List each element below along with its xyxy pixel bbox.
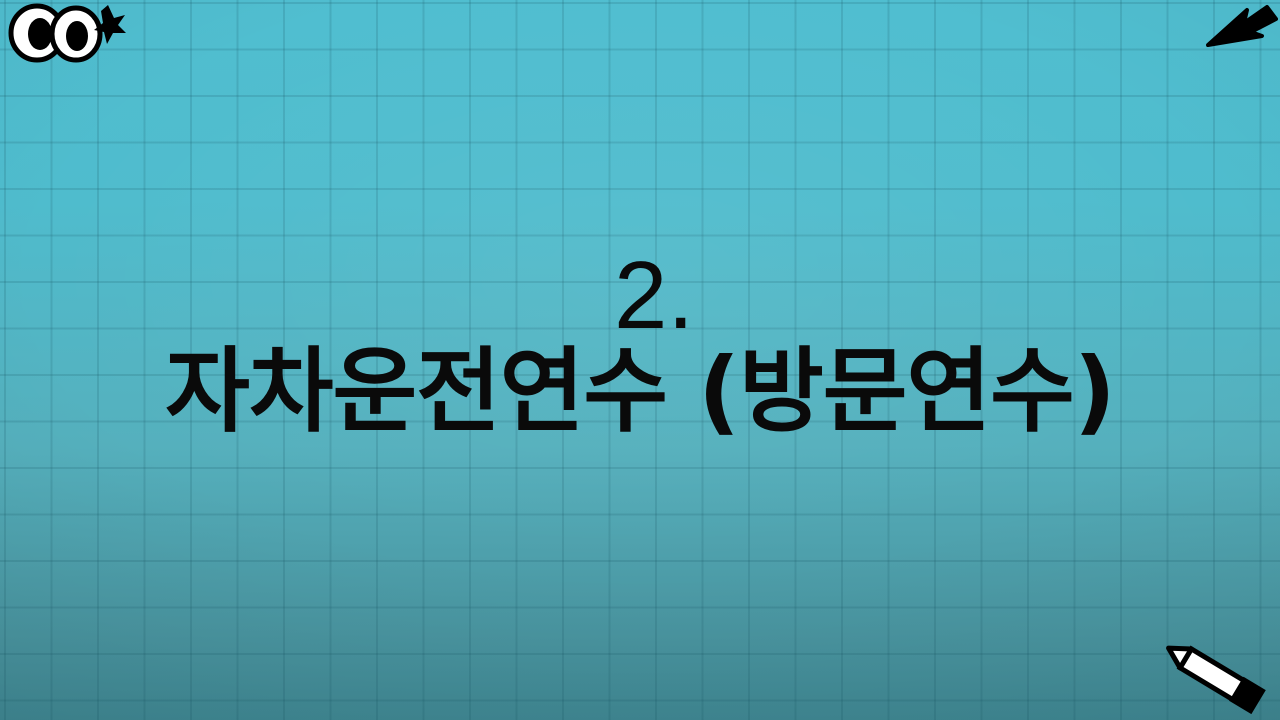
slide-canvas: 2. 자차운전연수 (방문연수)	[0, 0, 1280, 720]
googly-eyes-icon	[4, 2, 126, 64]
title-number: 2.	[0, 248, 1280, 344]
page-title: 2. 자차운전연수 (방문연수)	[0, 248, 1280, 438]
eye-right	[52, 8, 100, 60]
cursor-arrow-icon	[1204, 2, 1278, 52]
pencil-icon	[1162, 640, 1278, 718]
title-text: 자차운전연수 (방문연수)	[0, 346, 1280, 438]
